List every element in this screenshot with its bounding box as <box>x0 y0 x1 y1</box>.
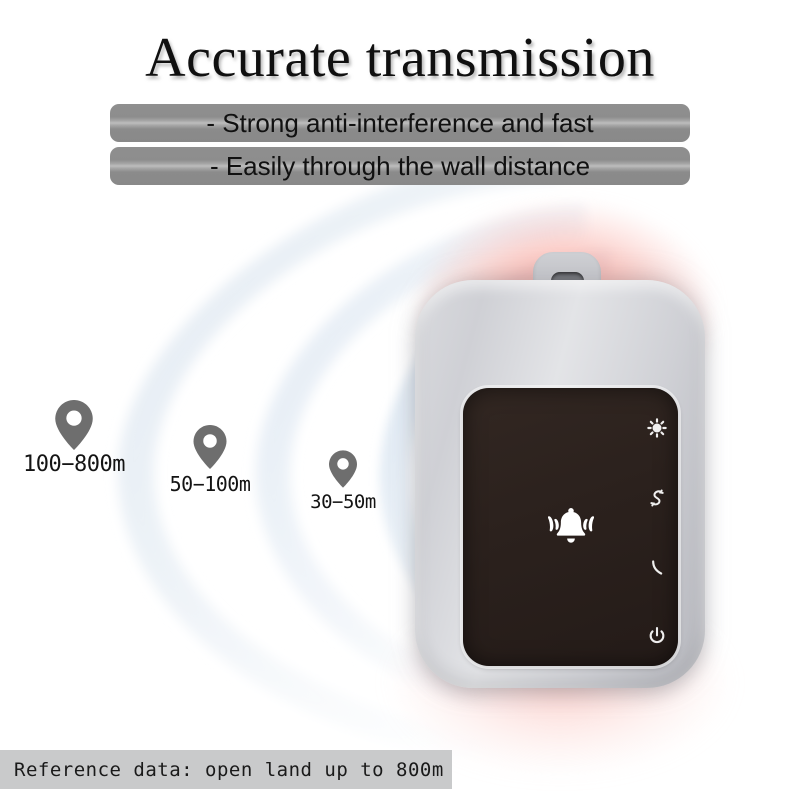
ringing-bell-icon[interactable] <box>548 506 594 548</box>
product-feature-banner: Accurate transmission - Strong anti-inte… <box>0 0 800 800</box>
range-marker-3-label: 30−50m <box>310 491 376 513</box>
redial-call-icon[interactable] <box>647 488 667 508</box>
feature-bullet-1: - Strong anti-interference and fast <box>110 104 690 142</box>
range-marker-2-label: 50−100m <box>170 472 251 496</box>
device-body <box>415 280 705 688</box>
map-pin-icon <box>194 425 227 469</box>
range-marker-1-label: 100−800m <box>23 452 125 477</box>
reference-data-bar: Reference data: open land up to 800m <box>0 750 452 789</box>
product-device <box>405 238 715 698</box>
feature-bullet-1-label: - Strong anti-interference and fast <box>110 110 690 136</box>
page-title: Accurate transmission <box>0 26 800 90</box>
power-icon[interactable] <box>647 626 667 646</box>
phone-handset-icon[interactable] <box>647 558 667 578</box>
range-marker-1: 100−800m <box>20 400 128 500</box>
map-pin-icon <box>329 450 357 488</box>
device-front-panel <box>463 388 678 666</box>
range-marker-2: 50−100m <box>160 425 260 520</box>
range-marker-3: 30−50m <box>300 450 386 540</box>
map-pin-icon <box>55 400 93 450</box>
reference-data-text: Reference data: open land up to 800m <box>0 759 444 781</box>
brightness-gear-icon[interactable] <box>647 418 667 438</box>
feature-bullet-2-label: - Easily through the wall distance <box>110 153 690 179</box>
feature-bullet-2: - Easily through the wall distance <box>110 147 690 185</box>
